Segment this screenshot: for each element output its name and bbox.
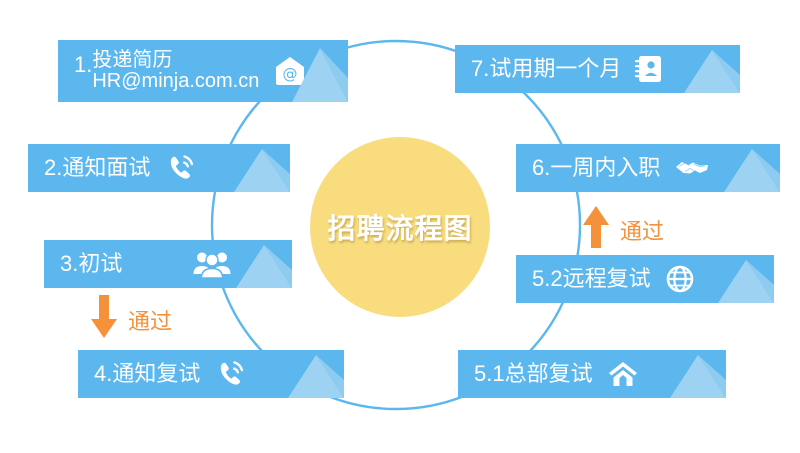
email-at-icon: @: [273, 54, 307, 88]
svg-text:@: @: [283, 65, 298, 83]
banner-fold-6: [724, 144, 780, 192]
arrow-up-icon: [582, 205, 610, 254]
step-banner-3[interactable]: 3.初试: [44, 240, 292, 288]
step-2-label: 2.通知面试: [44, 155, 150, 180]
step-4-label: 4.通知复试: [94, 361, 200, 386]
pass-label-right: 通过: [620, 214, 664, 246]
recruitment-flowchart: 招聘流程图 1. 投递简历 HR@minja.com.cn @ 7.试用期一个月: [0, 0, 800, 453]
center-circle: 招聘流程图: [310, 137, 490, 317]
step-5-1-label: 5.1总部复试: [474, 361, 593, 386]
banner-fold-5-1: [670, 350, 726, 398]
arrow-down-icon: [90, 295, 118, 344]
contact-book-icon: [635, 54, 663, 84]
step-banner-1[interactable]: 1. 投递简历 HR@minja.com.cn @: [58, 40, 348, 102]
pass-connector-right: 通过: [582, 205, 664, 254]
step-banner-6[interactable]: 6.一周内入职: [516, 144, 780, 192]
pass-label-left: 通过: [128, 304, 172, 336]
globe-icon: [665, 264, 695, 294]
people-group-icon: [192, 249, 232, 279]
step-5-2-label: 5.2远程复试: [532, 266, 651, 291]
step-1-number: 1.: [74, 50, 92, 77]
step-banner-4[interactable]: 4.通知复试: [78, 350, 344, 398]
page-title: 招聘流程图: [327, 207, 472, 247]
step-7-label: 7.试用期一个月: [471, 56, 621, 81]
banner-fold-3: [236, 240, 292, 288]
phone-ring-icon: [214, 358, 246, 390]
step-banner-7[interactable]: 7.试用期一个月: [455, 45, 740, 93]
step-banner-2[interactable]: 2.通知面试: [28, 144, 290, 192]
step-1-line2: HR@minja.com.cn: [92, 71, 259, 92]
handshake-icon: [674, 154, 710, 182]
step-3-label: 3.初试: [60, 251, 122, 276]
step-banner-5-2[interactable]: 5.2远程复试: [516, 255, 774, 303]
banner-fold-5-2: [718, 255, 774, 303]
banner-fold-4: [288, 350, 344, 398]
banner-fold-2: [234, 144, 290, 192]
pass-connector-left: 通过: [90, 295, 172, 344]
step-1-line1: 投递简历: [92, 50, 259, 71]
phone-ring-icon: [164, 152, 196, 184]
step-banner-5-1[interactable]: 5.1总部复试: [458, 350, 726, 398]
step-1-label: 1. 投递简历 HR@minja.com.cn: [74, 50, 259, 92]
home-icon: [607, 359, 639, 389]
step-6-label: 6.一周内入职: [532, 155, 660, 180]
banner-fold-7: [684, 45, 740, 93]
